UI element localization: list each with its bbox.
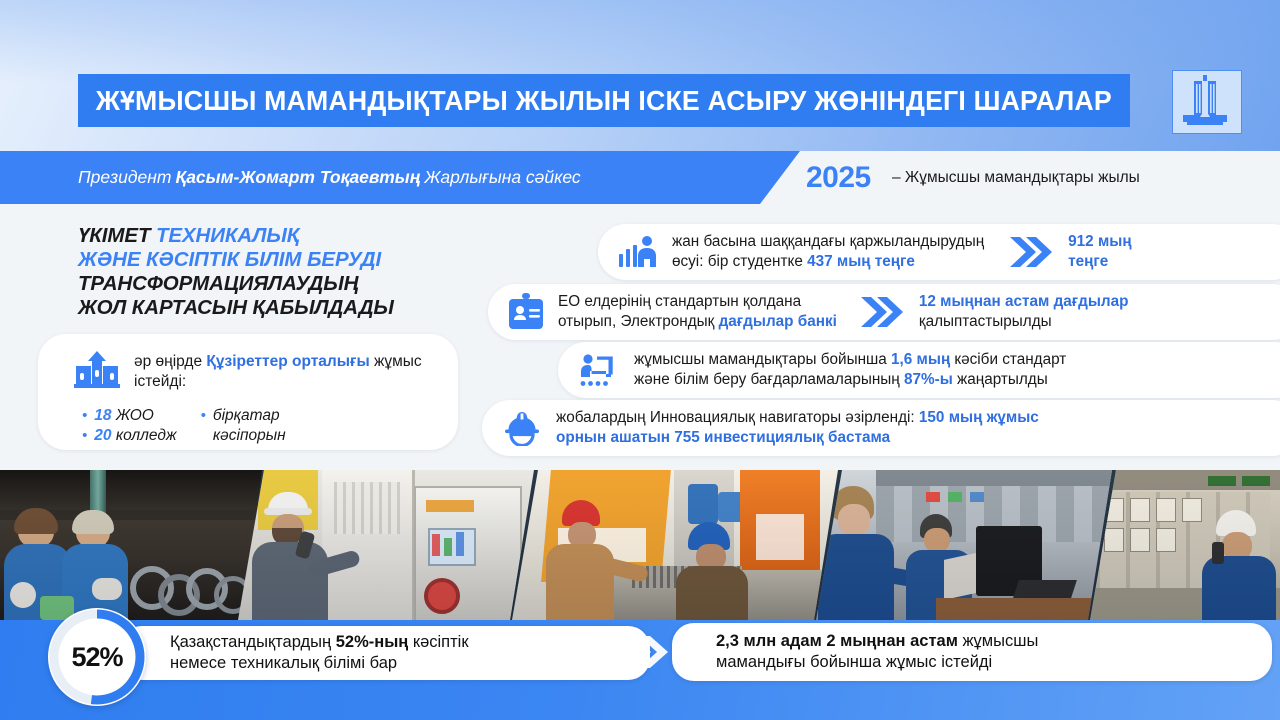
card-skills-accent: дағдылар банкі bbox=[719, 313, 837, 330]
bottom-right-a: жұмысшы bbox=[958, 632, 1038, 650]
lead-line1-plain: ҮКІМЕТ bbox=[78, 224, 156, 247]
double-chevron-right-icon bbox=[620, 634, 668, 670]
person-bar-chart-icon bbox=[618, 234, 660, 270]
card-funding-result-line1: 912 мың bbox=[1068, 232, 1131, 252]
cc-text-a: әр өңірде bbox=[134, 353, 206, 370]
card-navigator-l1-accent: 150 мың жұмыс bbox=[919, 409, 1039, 426]
card-standards-l1-accent: 1,6 мың bbox=[891, 351, 950, 368]
lead-line2: ЖӘНЕ КӘСІПТІК БІЛІМ БЕРУДІ bbox=[78, 248, 498, 272]
competence-centers-card: әр өңірде Құзіреттер орталығы жұмыс істе… bbox=[38, 334, 458, 450]
lead-statement: ҮКІМЕТ ТЕХНИКАЛЫҚ ЖӘНЕ КӘСІПТІК БІЛІМ БЕ… bbox=[78, 224, 498, 320]
bullet-label: бірқатар кәсіпорын bbox=[213, 406, 333, 446]
competence-centers-header: әр өңірде Құзіреттер орталығы жұмыс істе… bbox=[74, 350, 458, 393]
card-navigator-l1a: жобалардың Инновациялық навигаторы әзірл… bbox=[556, 409, 919, 426]
page-title: ЖҰМЫСШЫ МАМАНДЫҚТАРЫ ЖЫЛЫН ІСКЕ АСЫРУ ЖӨ… bbox=[96, 87, 1112, 115]
card-skills-text: ЕО елдерінің стандартын қолдана отырып, … bbox=[558, 292, 837, 332]
president-decree-text: Президент Қасым-Жомарт Тоқаевтың Жарлығы… bbox=[78, 151, 581, 204]
card-funding-text: жан басына шаққандағы қаржыландырудың өс… bbox=[672, 232, 984, 272]
kazakhstan-government-building-emblem-icon bbox=[1172, 70, 1242, 134]
bottom-left-line2: немесе техникалық білімі бар bbox=[170, 653, 469, 674]
competence-centers-text: әр өңірде Құзіреттер орталығы жұмыс істе… bbox=[134, 352, 458, 392]
photo-strip-overlay bbox=[0, 470, 1280, 620]
bottom-right-text: 2,3 млн адам 2 мыңнан астам жұмысшы мама… bbox=[716, 631, 1038, 673]
card-navigator-text: жобалардың Инновациялық навигаторы әзірл… bbox=[556, 408, 1039, 448]
card-standards-l2b: жаңартылды bbox=[953, 371, 1048, 388]
card-funding-line2: өсуі: бір студентке bbox=[672, 253, 807, 270]
card-innovation-navigator: жобалардың Инновациялық навигаторы әзірл… bbox=[482, 400, 1280, 456]
card-skills-line1: ЕО елдерінің стандартын қолдана bbox=[558, 292, 837, 312]
bullet-label: ЖОО bbox=[116, 407, 154, 424]
president-prefix: Президент bbox=[78, 167, 171, 188]
card-navigator-l2: орнын ашатын 755 инвестициялық бастама bbox=[556, 428, 1039, 448]
year-caption: – Жұмысшы мамандықтары жылы bbox=[892, 151, 1140, 204]
list-item: • 20 колледж bbox=[82, 426, 177, 446]
card-professional-standards: жұмысшы мамандықтары бойынша 1,6 мың кәс… bbox=[558, 342, 1280, 398]
infographic-root: ЖҰМЫСШЫ МАМАНДЫҚТАРЫ ЖЫЛЫН ІСКЕ АСЫРУ ЖӨ… bbox=[0, 0, 1280, 720]
bullets-column-right: • бірқатар кәсіпорын bbox=[201, 406, 333, 446]
university-building-icon bbox=[74, 350, 120, 393]
card-funding-accent: 437 мың теңге bbox=[807, 253, 915, 270]
card-standards-l2a: және білім беру бағдарламаларының bbox=[634, 371, 904, 388]
presentation-board-icon bbox=[580, 353, 620, 387]
president-suffix: Жарлығына сәйкес bbox=[424, 167, 580, 188]
lead-line3: ТРАНСФОРМАЦИЯЛАУДЫҢ bbox=[78, 272, 498, 296]
statistic-donut-chart: 52% bbox=[48, 608, 146, 706]
bottom-right-accent: 2,3 млн адам 2 мыңнан астам bbox=[716, 632, 958, 650]
bullet-label: колледж bbox=[116, 427, 177, 444]
competence-centers-bullets: • 18 ЖОО • 20 колледж • бірқатар кәсіпор… bbox=[82, 406, 333, 446]
bullet-number: 18 bbox=[94, 407, 111, 424]
bullet-dot-icon: • bbox=[201, 406, 206, 426]
card-skills-result-line2: қалыптастырылды bbox=[919, 312, 1129, 332]
bottom-left-b: кәсіптік bbox=[408, 633, 468, 651]
bottom-left-accent: 52%-ның bbox=[336, 633, 409, 651]
card-skills-bank: ЕО елдерінің стандартын қолдана отырып, … bbox=[488, 284, 1280, 340]
year-badge: 2025 bbox=[806, 151, 871, 204]
bottom-card-education-share: Қазақстандықтардың 52%-ның кәсіптік неме… bbox=[120, 626, 650, 680]
card-funding-result-line2: теңге bbox=[1068, 252, 1131, 272]
card-funding-line1: жан басына шаққандағы қаржыландырудың bbox=[672, 232, 984, 252]
bottom-left-a: Қазақстандықтардың bbox=[170, 633, 336, 651]
list-item: • бірқатар кәсіпорын bbox=[201, 406, 333, 446]
bullet-dot-icon: • bbox=[82, 426, 87, 446]
lead-line1-accent: ТЕХНИКАЛЫҚ bbox=[156, 224, 299, 247]
lead-line4: ЖОЛ КАРТАСЫН ҚАБЫЛДАДЫ bbox=[78, 296, 498, 320]
card-standards-l1a: жұмысшы мамандықтары бойынша bbox=[634, 351, 891, 368]
list-item: • 18 ЖОО bbox=[82, 406, 177, 426]
bullets-column-left: • 18 ЖОО • 20 колледж bbox=[82, 406, 177, 446]
card-standards-l2-accent: 87%-ы bbox=[904, 371, 953, 388]
bullet-dot-icon: • bbox=[82, 406, 87, 426]
id-badge-icon bbox=[508, 293, 544, 331]
president-decree-strip: Президент Қасым-Жомарт Тоқаевтың Жарлығы… bbox=[0, 151, 1280, 204]
card-standards-l1b: кәсіби стандарт bbox=[950, 351, 1066, 368]
card-skills-line2: отырып, Электрондық bbox=[558, 313, 719, 330]
industrial-workers-photo-strip bbox=[0, 470, 1280, 620]
donut-value-label: 52% bbox=[71, 642, 122, 673]
card-standards-text: жұмысшы мамандықтары бойынша 1,6 мың кәс… bbox=[634, 350, 1066, 390]
double-chevron-right-icon bbox=[1008, 235, 1052, 269]
president-name: Қасым-Жомарт Тоқаевтың bbox=[171, 167, 424, 188]
double-chevron-right-icon bbox=[859, 295, 903, 329]
card-funding-result: 912 мың теңге bbox=[1068, 232, 1131, 272]
bottom-card-employment: 2,3 млн адам 2 мыңнан астам жұмысшы мама… bbox=[672, 623, 1272, 681]
card-skills-result-line1: 12 мыңнан астам дағдылар bbox=[919, 292, 1129, 312]
card-funding-growth: жан басына шаққандағы қаржыландырудың өс… bbox=[598, 224, 1280, 280]
bullet-number: 20 bbox=[94, 427, 111, 444]
bottom-right-line2: мамандығы бойынша жұмыс істейді bbox=[716, 652, 1038, 673]
card-skills-result: 12 мыңнан астам дағдылар қалыптастырылды bbox=[919, 292, 1129, 332]
bottom-left-text: Қазақстандықтардың 52%-ның кәсіптік неме… bbox=[170, 632, 469, 674]
page-title-bar: ЖҰМЫСШЫ МАМАНДЫҚТАРЫ ЖЫЛЫН ІСКЕ АСЫРУ ЖӨ… bbox=[78, 74, 1130, 127]
hard-hat-icon bbox=[502, 410, 542, 446]
cc-text-b: Құзіреттер орталығы bbox=[206, 353, 369, 370]
